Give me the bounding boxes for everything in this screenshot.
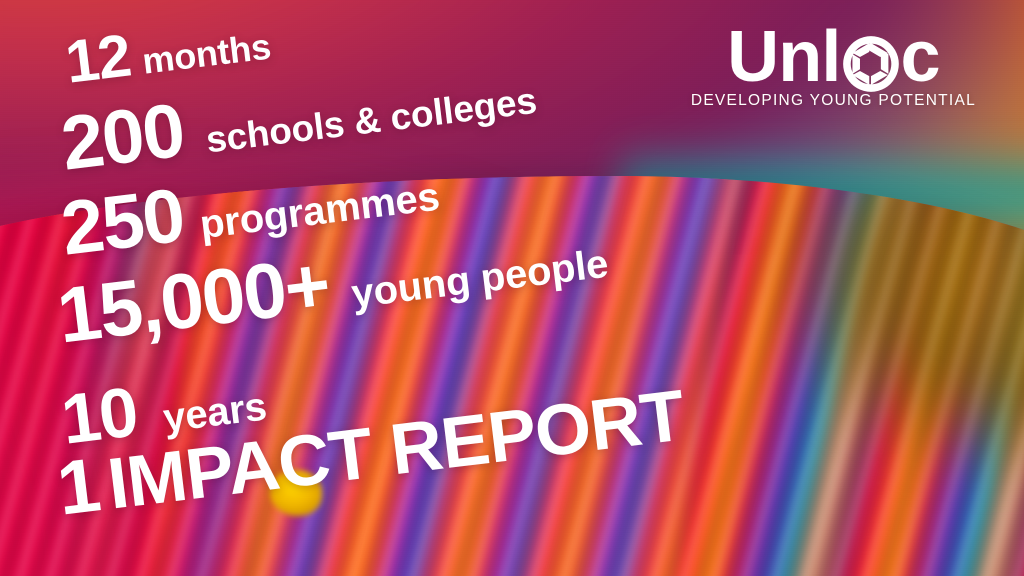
poster-canvas: 12 months 200 schools & colleges 250 pro… (0, 0, 1024, 576)
stat-row-months: 12 months (62, 9, 273, 93)
logo-word-part-2: c (901, 24, 940, 90)
stat-number: 200 (57, 93, 187, 183)
stat-label: months (140, 28, 273, 79)
logo-word-part-1: Unl (727, 24, 840, 90)
stat-number: 250 (57, 178, 187, 268)
logo-wordmark: Unl (691, 24, 976, 90)
stat-number: 12 (62, 26, 133, 93)
stat-label: schools & colleges (204, 82, 539, 159)
stat-number: 1 (53, 447, 102, 527)
unloc-logo: Unl (691, 24, 976, 110)
camera-aperture-icon (842, 35, 900, 93)
stat-label: young people (349, 244, 610, 315)
logo-tagline: DEVELOPING YOUNG POTENTIAL (691, 92, 976, 110)
